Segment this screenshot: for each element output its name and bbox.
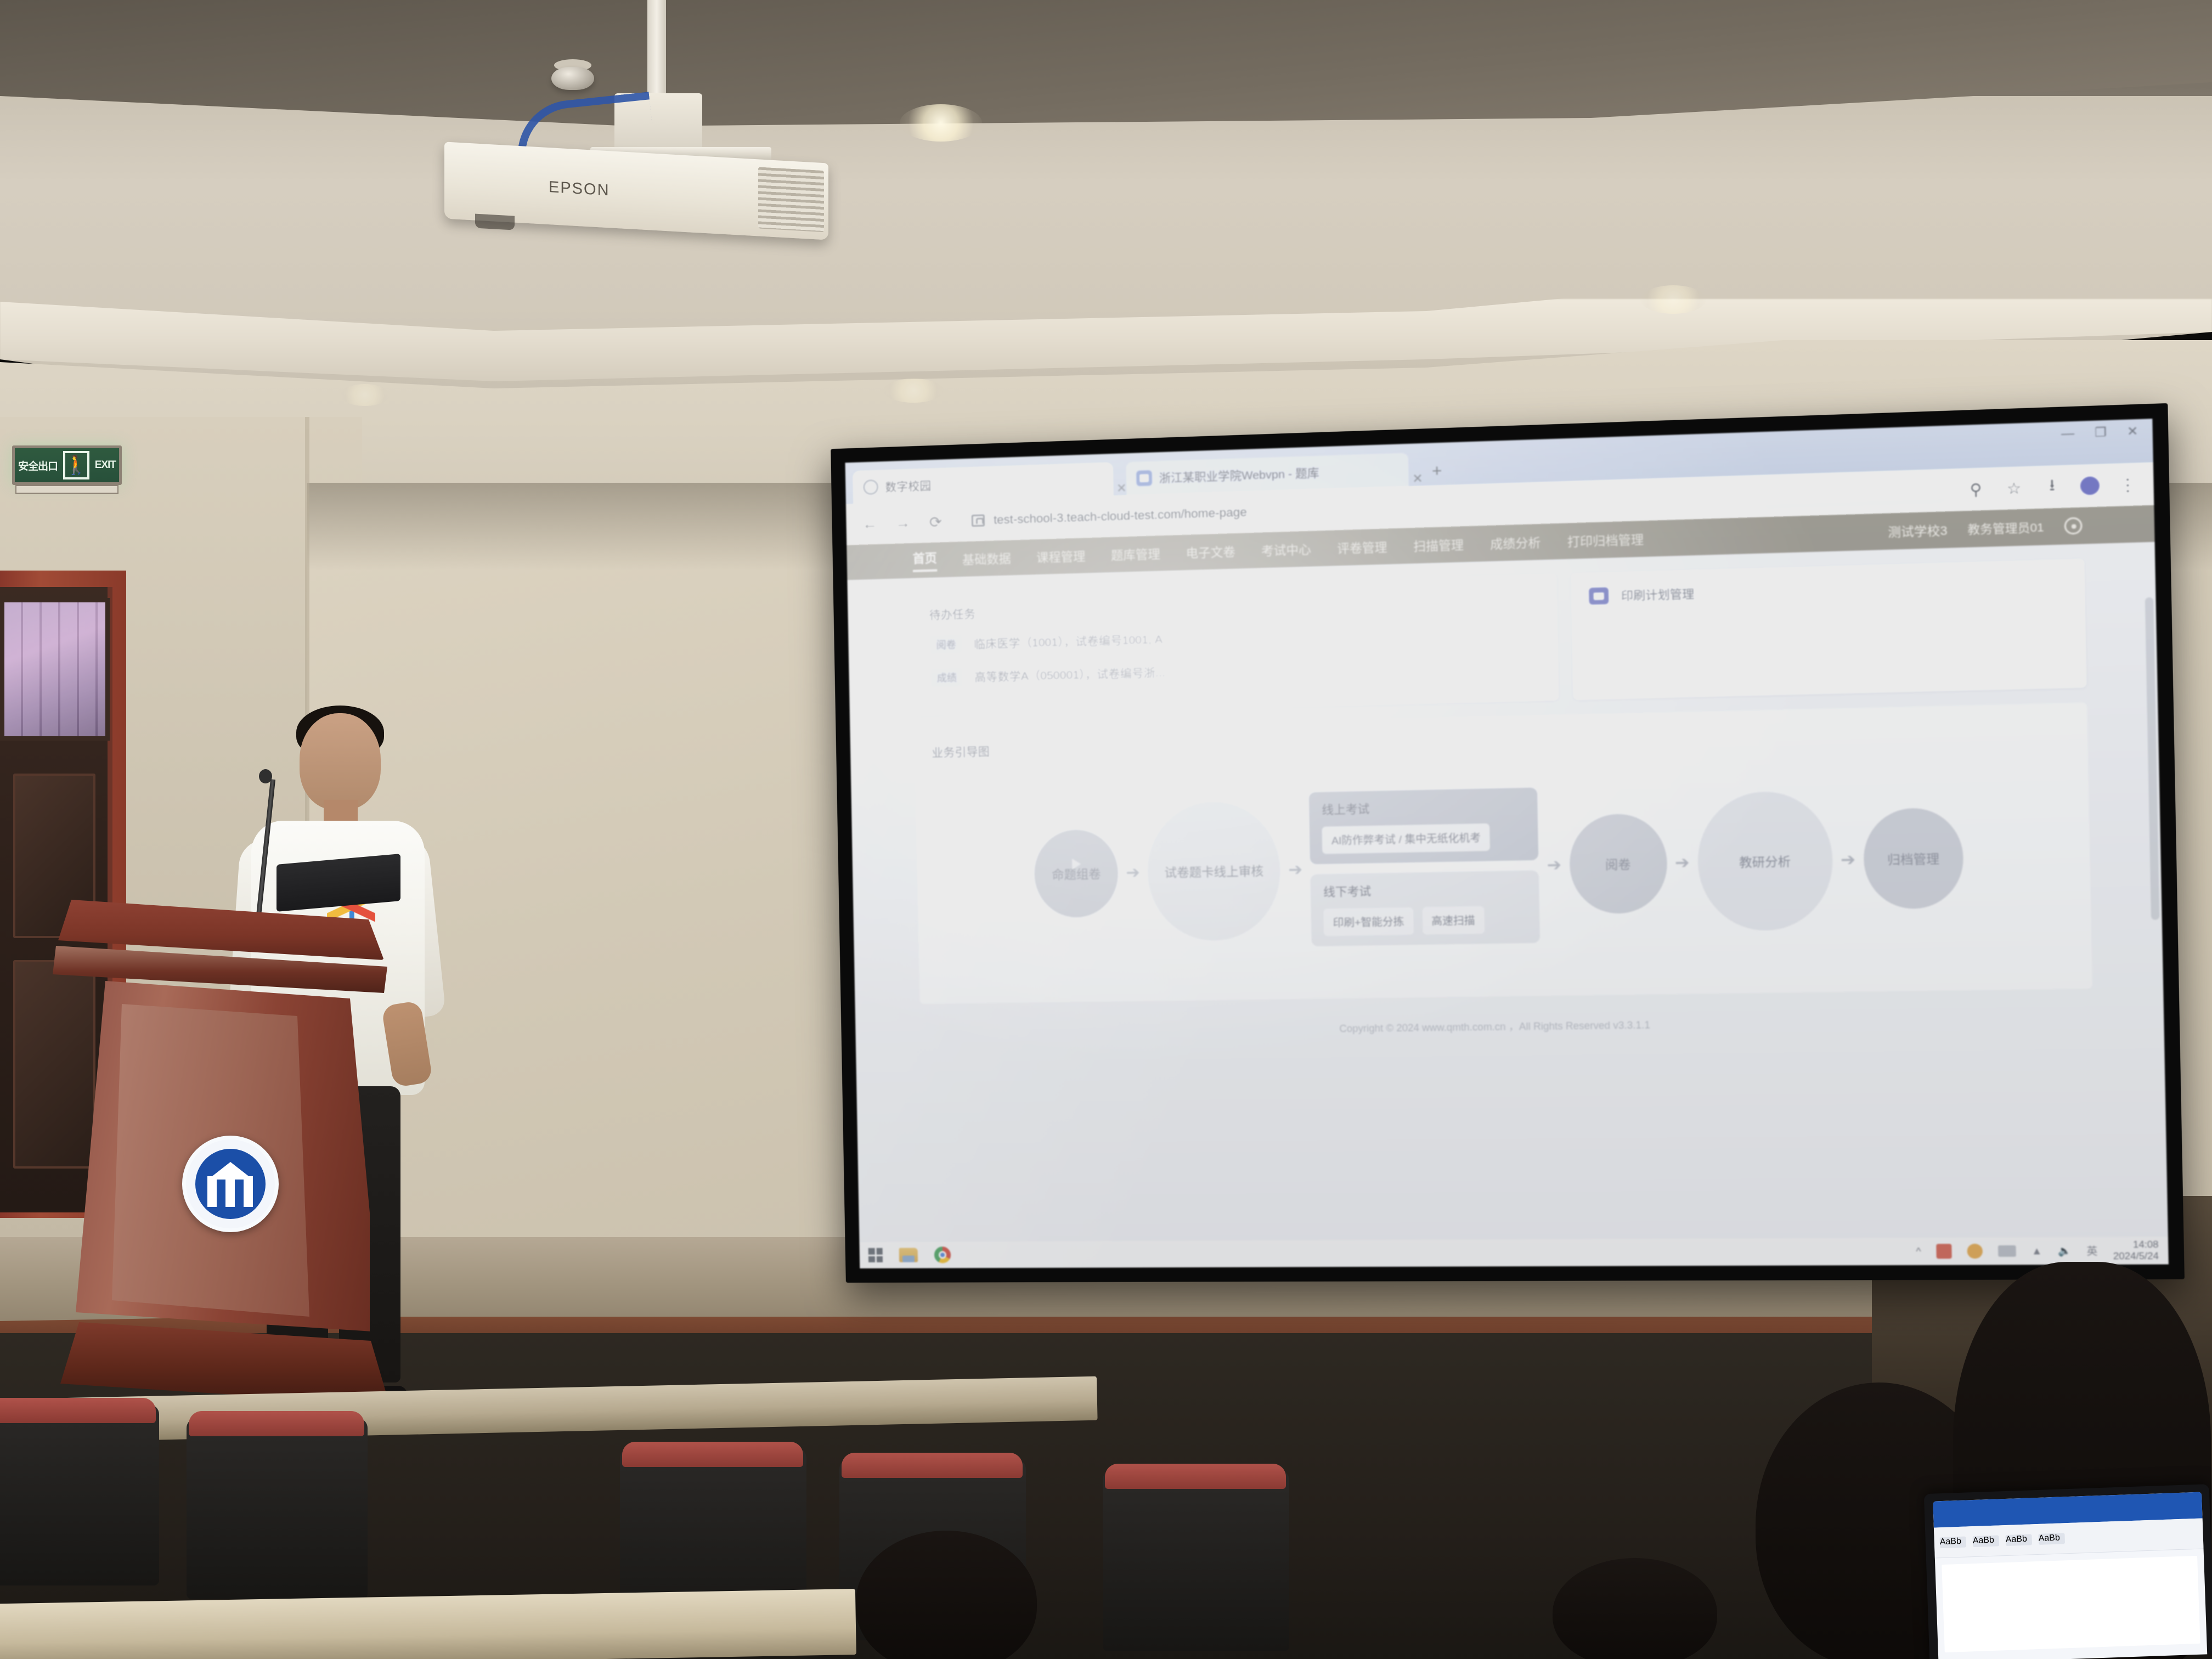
address-bar-url: test-school-3.teach-cloud-test.com/home-… [994,505,1247,527]
navbar-right: 测试学校3 教务管理员01 [1888,516,2083,540]
chair-headrest [0,1398,156,1423]
top-card-row: 待办任务 阅卷 临床医学（1001），试卷编号1001, A 成绩 高等数学A（… [912,559,2087,716]
nav-item-marking-mgmt[interactable]: 评卷管理 [1337,538,1387,557]
battery-icon[interactable] [1998,1245,2016,1257]
chair-headrest [842,1453,1023,1478]
forward-icon[interactable]: → [893,514,912,532]
flow-node-compose[interactable]: 命题组卷 [1034,829,1119,918]
exit-sign-mount [15,485,119,494]
flow-node-label: 教研分析 [1739,851,1791,871]
star-icon[interactable]: ☆ [2004,478,2024,498]
flow-node-label: 归档管理 [1887,849,1940,868]
presenter-head [300,713,381,810]
tab-close-icon[interactable]: ✕ [1116,481,1127,496]
tab-title: 浙江某职业学院Webvpn - 题库 [1159,464,1319,486]
todo-item-text: 临床医学（1001），试卷编号1001, A [974,630,1163,652]
branch-pill-row: AI防作弊考试 / 集中无纸化机考 [1322,823,1526,854]
audience-member-head [1553,1558,1717,1659]
emblem-column [207,1176,217,1207]
todo-card-title: 待办任务 [929,589,1539,623]
windows-taskbar: ^ ▲ 🔈 英 14:08 2024/5/24 [859,1237,2168,1268]
running-man-icon: 🚶 [63,451,89,479]
profile-avatar[interactable] [2080,476,2100,495]
flow-node-online-review[interactable]: 试卷题卡线上审核 [1147,800,1282,941]
projector-brand-label: EPSON [549,178,610,200]
download-icon[interactable]: ⭳ [2042,473,2063,501]
flow-arrow-icon: ➔ [1285,860,1306,879]
toolbar-actions: ⚲ ☆ ⭳ ⋮ [1966,470,2138,503]
word-document-body [1942,1556,2200,1652]
antivirus-icon[interactable] [1936,1244,1952,1259]
tray-chevron-icon[interactable]: ^ [1916,1245,1921,1257]
branch-title: 线下考试 [1323,879,1527,900]
branch-pill[interactable]: 印刷+智能分拣 [1324,907,1414,936]
clock-time: 14:08 [2133,1239,2159,1250]
business-flow-card: 业务引导图 命题组卷 ➔ 试卷题卡线上审核 ➔ [915,703,2092,1005]
word-style-chip[interactable]: AaBb [1940,1536,1967,1548]
branch-pill[interactable]: 高速扫描 [1422,906,1485,935]
flow-node-marking[interactable]: 阅卷 [1568,813,1668,914]
quick-entry-card: 印刷计划管理 [1571,559,2086,700]
status-badge: 成绩 [930,667,963,688]
business-flow-diagram: 命题组卷 ➔ 试卷题卡线上审核 ➔ 线上考试 [932,752,2074,975]
nav-item-print-archive[interactable]: 打印归档管理 [1567,530,1644,550]
ceiling-projector: EPSON [428,82,878,225]
taskbar-clock[interactable]: 14:08 2024/5/24 [2113,1239,2159,1262]
laptop-screen: AaBb AaBb AaBb AaBb [1933,1492,2207,1659]
flow-branch-online-exam[interactable]: 线上考试 AI防作弊考试 / 集中无纸化机考 [1309,787,1539,864]
word-style-chip[interactable]: AaBb [1972,1535,1999,1547]
clock-date: 2024/5/24 [2113,1250,2159,1261]
system-tray: ^ ▲ 🔈 英 14:08 2024/5/24 [1916,1239,2159,1262]
flow-arrow-icon: ➔ [1671,853,1693,873]
nav-item-scan-mgmt[interactable]: 扫描管理 [1413,535,1464,554]
gear-icon[interactable] [2064,517,2082,534]
flow-arrow-icon: ➔ [1122,862,1143,882]
school-pin-label[interactable]: 测试学校3 [1888,521,1948,541]
list-item[interactable]: 阅卷 临床医学（1001），试卷编号1001, A [929,618,1539,654]
university-emblem [182,1136,279,1232]
play-icon [1072,859,1081,870]
flow-node-label: 阅卷 [1605,855,1631,873]
maximize-button[interactable]: ❐ [2095,425,2107,440]
flow-card-title: 业务引导图 [932,718,2069,760]
branch-pill-row: 印刷+智能分拣 高速扫描 [1324,905,1528,936]
word-style-chip[interactable]: AaBb [2005,1534,2032,1546]
flow-arrow-icon: ➔ [1837,849,1859,870]
projector-vent [758,167,824,232]
flow-arrow-icon: ➔ [1543,855,1565,875]
ime-indicator[interactable]: 英 [2086,1243,2097,1258]
todo-item-text: 高等数学A（050001），试卷编号浙... [974,664,1165,685]
word-style-chip[interactable]: AaBb [2038,1533,2065,1545]
nav-item-question-bank[interactable]: 题库管理 [1111,544,1160,563]
podium-laptop [276,854,400,912]
chair-headrest [622,1442,803,1467]
microphone-head [259,769,272,783]
web-page: 首页 基础数据 课程管理 题库管理 电子文卷 考试中心 评卷管理 扫描管理 成绩… [847,505,2168,1243]
todo-task-card: 待办任务 阅卷 临床医学（1001），试卷编号1001, A 成绩 高等数学A（… [912,574,1559,715]
site-info-icon[interactable] [972,514,985,527]
windows-start-icon[interactable] [868,1248,883,1262]
lectern-podium [55,900,395,1404]
flow-node-research-analysis[interactable]: 教研分析 [1696,791,1833,932]
audience-laptop: AaBb AaBb AaBb AaBb [1924,1484,2212,1659]
status-badge: 阅卷 [929,634,963,655]
ceiling-downlight [1640,285,1706,314]
projection-screen-frame: 数字校园 ✕ 浙江某职业学院Webvpn - 题库 ✕ + — ❐ ✕ ← → [831,403,2185,1283]
ceiling-downlight [900,104,982,142]
ceiling-downlight [340,384,390,406]
tab-close-icon[interactable]: ✕ [1412,471,1423,486]
door-window-glass [0,598,110,741]
projector-mount-pole [647,0,666,99]
user-role-label[interactable]: 教务管理员01 [1967,518,2044,538]
reload-icon[interactable]: ⟳ [926,512,945,531]
nav-item-basic-data[interactable]: 基础数据 [962,549,1011,568]
flow-node-archive[interactable]: 归档管理 [1863,807,1964,909]
close-window-button[interactable]: ✕ [2127,424,2138,439]
chair [0,1404,159,1585]
emblem-column [244,1176,253,1207]
minimize-button[interactable]: — [2061,426,2075,441]
back-icon[interactable]: ← [860,515,879,533]
branch-pill[interactable]: AI防作弊考试 / 集中无纸化机考 [1322,823,1490,854]
lecture-room-scene: EPSON 安全出口 🚶 EXIT [0,0,2212,1659]
flow-node-label: 试卷题卡线上审核 [1164,861,1263,881]
quick-entry-label: 印刷计划管理 [1621,585,1695,604]
chair-headrest [1105,1464,1286,1489]
list-item[interactable]: 成绩 高等数学A（050001），试卷编号浙... [930,652,1541,688]
chrome-icon[interactable] [934,1246,951,1263]
projected-desktop: 数字校园 ✕ 浙江某职业学院Webvpn - 题库 ✕ + — ❐ ✕ ← → [845,419,2169,1268]
notification-icon[interactable] [1967,1244,1983,1259]
globe-icon [863,479,878,495]
nav-item-exam-center[interactable]: 考试中心 [1261,540,1311,559]
key-icon[interactable]: ⚲ [1966,479,1987,499]
chair-headrest [189,1411,364,1436]
chair [1103,1470,1289,1651]
branch-title: 线上考试 [1322,797,1525,817]
app-favicon-icon [1137,470,1153,486]
projector-lens [475,214,515,230]
emblem-column [225,1176,235,1207]
exit-sign-chinese-label: 安全出口 [18,458,58,473]
flow-branch-group: 线上考试 AI防作弊考试 / 集中无纸化机考 线下考试 印刷+智能分拣 [1309,787,1541,946]
menu-icon[interactable]: ⋮ [2117,475,2138,494]
tab-title: 数字校园 [885,477,932,495]
network-icon[interactable]: ▲ [2032,1245,2042,1257]
volume-icon[interactable]: 🔈 [2058,1245,2072,1257]
exit-sign-english-label: EXIT [95,459,116,471]
nav-item-e-paper[interactable]: 电子文卷 [1186,542,1235,561]
quick-entry-print-plan[interactable]: 印刷计划管理 [1589,574,2067,605]
chair [187,1418,368,1599]
new-tab-button[interactable]: + [1423,461,1455,486]
window-controls: — ❐ ✕ [2061,424,2138,441]
nav-item-home[interactable]: 首页 [912,548,937,572]
printer-icon [1589,587,1609,605]
nav-item-course-mgmt[interactable]: 课程管理 [1036,546,1086,566]
nav-item-score-analysis[interactable]: 成绩分析 [1490,533,1541,552]
emergency-exit-sign: 安全出口 🚶 EXIT [12,445,122,485]
flow-branch-offline-exam[interactable]: 线下考试 印刷+智能分拣 高速扫描 [1311,870,1541,946]
emblem-inner-disc [195,1149,266,1219]
page-content: 待办任务 阅卷 临床医学（1001），试卷编号1001, A 成绩 高等数学A（… [847,542,2164,1041]
ceiling-downlight [883,379,944,403]
file-explorer-icon[interactable] [899,1248,918,1262]
